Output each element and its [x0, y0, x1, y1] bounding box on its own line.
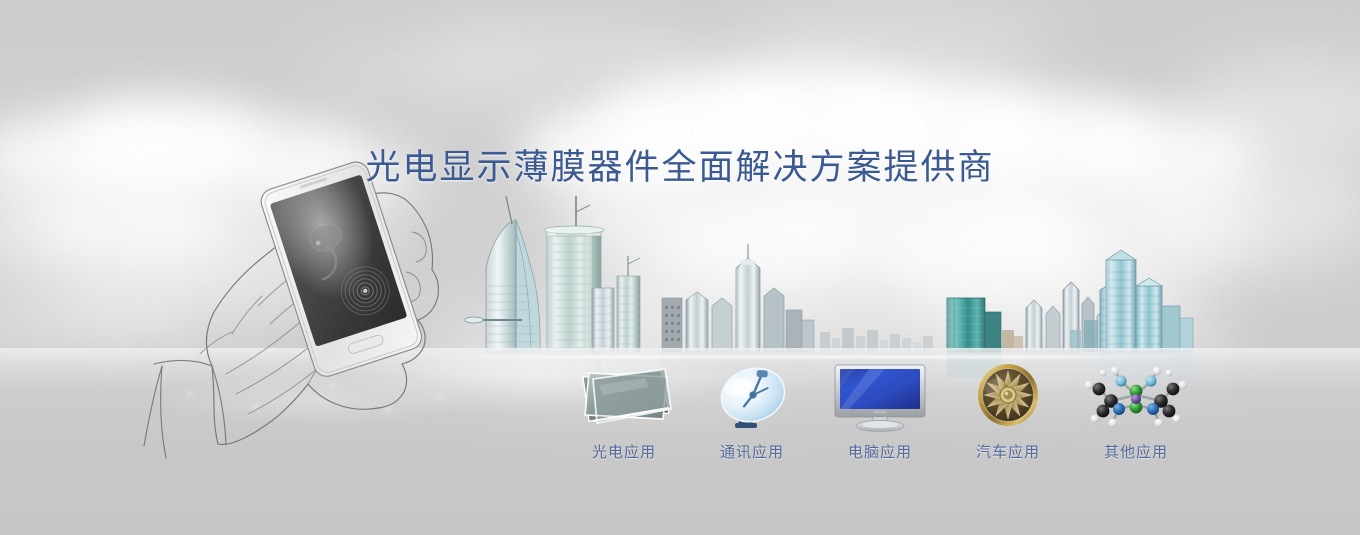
glass-panels-icon [569, 361, 679, 433]
application-label: 其他应用 [1104, 441, 1168, 462]
lcd-monitor-icon [825, 361, 935, 433]
application-item-automotive[interactable]: 汽车应用 [944, 352, 1072, 462]
application-label: 通讯应用 [720, 441, 784, 462]
application-label: 光电应用 [592, 441, 656, 462]
car-wheel-icon [953, 361, 1063, 433]
page-title: 光电显示薄膜器件全面解决方案提供商 [0, 139, 1360, 190]
application-label: 电脑应用 [848, 441, 912, 462]
application-item-optoelectronic[interactable]: 光电应用 [560, 352, 688, 462]
hero-banner: 光电显示薄膜器件全面解决方案提供商 [0, 0, 1360, 535]
molecule-icon [1081, 361, 1191, 433]
application-icon-row: 光电应用 [560, 352, 1200, 462]
application-label: 汽车应用 [976, 441, 1040, 462]
application-item-computer[interactable]: 电脑应用 [816, 352, 944, 462]
application-item-other[interactable]: 其他应用 [1072, 352, 1200, 462]
satellite-dish-icon [697, 361, 807, 433]
application-item-communication[interactable]: 通讯应用 [688, 352, 816, 462]
